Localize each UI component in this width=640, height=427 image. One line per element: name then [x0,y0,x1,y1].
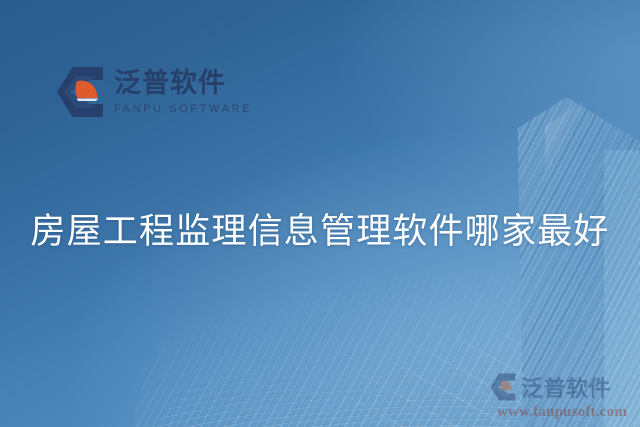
watermark-url: www.fanpusoft.com [490,404,634,421]
brand-name-en: FANPU SOFTWARE [114,104,252,115]
brand-logo: 泛普软件 FANPU SOFTWARE [56,66,252,118]
site-watermark: 泛普软件 www.fanpusoft.com [490,371,634,421]
brand-name-cn: 泛普软件 [114,70,252,97]
brand-logo-text: 泛普软件 FANPU SOFTWARE [114,70,252,115]
far-right-tower-slice [604,150,640,427]
facade-cornice-ribbons [150,318,640,427]
watermark-brand-row: 泛普软件 [490,371,634,403]
fanpu-hexagon-mark-icon [56,66,104,118]
fanpu-hexagon-mark-icon [490,373,516,401]
promo-banner: 泛普软件 FANPU SOFTWARE 房屋工程监理信息管理软件哪家最好 泛普软… [0,0,640,427]
right-tower-highlight-edge [545,100,640,427]
page-title: 房屋工程监理信息管理软件哪家最好 [0,203,640,254]
right-glass-tower [517,94,640,427]
watermark-brand-name: 泛普软件 [521,371,611,403]
facade-mullion-grid [300,300,640,427]
